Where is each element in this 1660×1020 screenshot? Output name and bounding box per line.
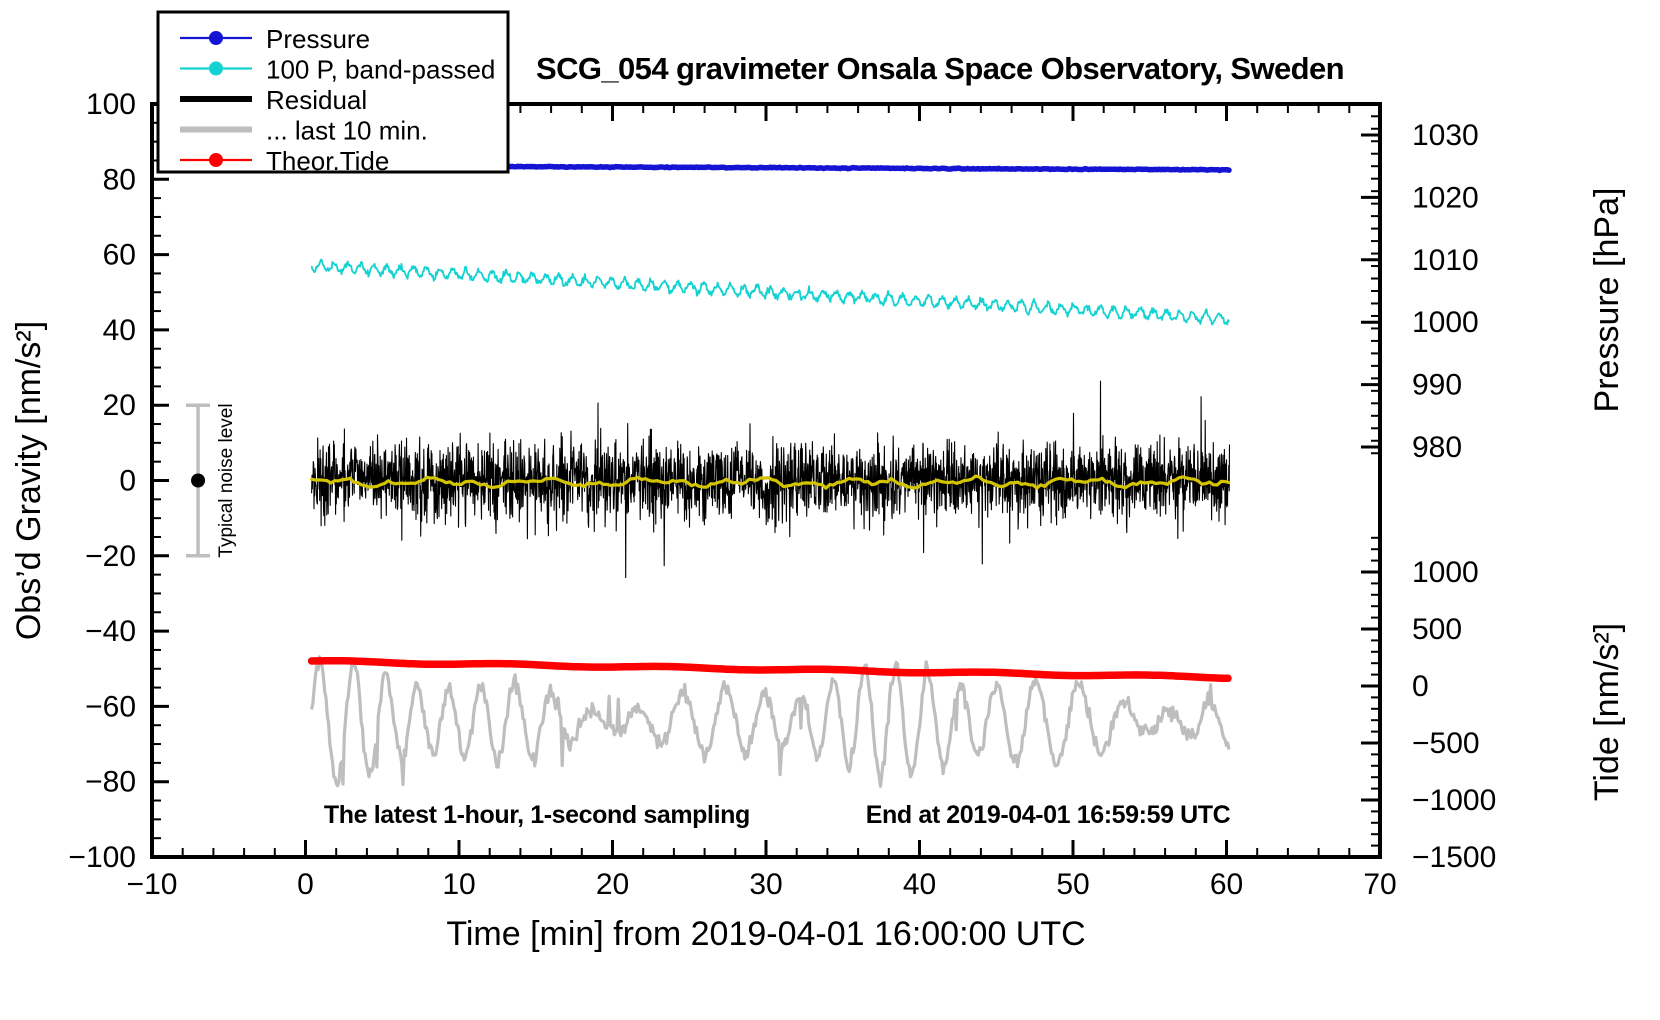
legend-marker-dot (209, 62, 223, 76)
y-tick-label-pressure: 1010 (1412, 244, 1479, 277)
y-tick-label-pressure: 1030 (1412, 119, 1479, 152)
legend-label: ... last 10 min. (266, 116, 428, 146)
x-tick-label: 70 (1363, 868, 1396, 901)
gravimeter-plot-page: Typical noise level−10010203040506070Tim… (0, 0, 1660, 1020)
y-tick-label-pressure: 990 (1412, 369, 1462, 402)
y-tick-label-tide: −500 (1412, 727, 1480, 760)
y-tick-label-pressure: 980 (1412, 431, 1462, 464)
y-axis-title-tide: Tide [nm/s²] (1588, 623, 1626, 801)
y-tick-label-left: 20 (103, 389, 136, 422)
series-pressure (505, 166, 1229, 170)
gravimeter-chart: Typical noise level−10010203040506070Tim… (0, 0, 1660, 1020)
legend-label: Residual (266, 85, 367, 115)
y-tick-label-tide: −1000 (1412, 784, 1496, 817)
legend-label: Theor.Tide (266, 146, 389, 176)
legend-label: Pressure (266, 24, 370, 54)
y-tick-label-left: −60 (85, 690, 136, 723)
y-tick-label-pressure: 1000 (1412, 306, 1479, 339)
y-tick-label-left: −80 (85, 766, 136, 799)
x-tick-label: 60 (1210, 868, 1243, 901)
end-time-note: End at 2019‑04‑01 16:59:59 UTC (866, 801, 1231, 829)
y-tick-label-left: 100 (86, 88, 136, 121)
y-tick-label-pressure: 1020 (1412, 181, 1479, 214)
legend-marker-dot (209, 153, 223, 167)
sampling-note: The latest 1‑hour, 1‑second sampling (324, 801, 750, 829)
x-tick-label: 50 (1056, 868, 1089, 901)
y-tick-label-tide: 1000 (1412, 556, 1479, 589)
x-axis-title: Time [min] from 2019‑04‑01 16:00:00 UTC (446, 915, 1085, 953)
y-axis-title-pressure: Pressure [hPa] (1588, 188, 1626, 413)
chart-title: SCG_054 gravimeter Onsala Space Observat… (536, 51, 1344, 86)
x-tick-label: 10 (442, 868, 475, 901)
y-axis-title-left: Obs’d Gravity [nm/s²] (10, 321, 48, 640)
y-tick-label-left: −20 (85, 540, 136, 573)
y-tick-label-left: 0 (119, 465, 136, 498)
legend-marker-dot (209, 31, 223, 45)
y-tick-label-tide: −1500 (1412, 841, 1496, 874)
x-tick-label: 30 (749, 868, 782, 901)
legend-label: 100 P, band‑passed (266, 55, 495, 85)
y-tick-label-tide: 500 (1412, 613, 1462, 646)
y-tick-label-left: −100 (68, 841, 136, 874)
legend: Pressure100 P, band‑passedResidual... la… (158, 12, 508, 176)
x-tick-label: 20 (596, 868, 629, 901)
y-tick-label-left: 60 (103, 239, 136, 272)
x-tick-label: 40 (903, 868, 936, 901)
noise-level-label: Typical noise level (216, 403, 237, 557)
y-tick-label-tide: 0 (1412, 670, 1429, 703)
y-tick-label-left: 40 (103, 314, 136, 347)
x-tick-label: 0 (297, 868, 314, 901)
y-tick-label-left: −40 (85, 615, 136, 648)
y-tick-label-left: 80 (103, 163, 136, 196)
